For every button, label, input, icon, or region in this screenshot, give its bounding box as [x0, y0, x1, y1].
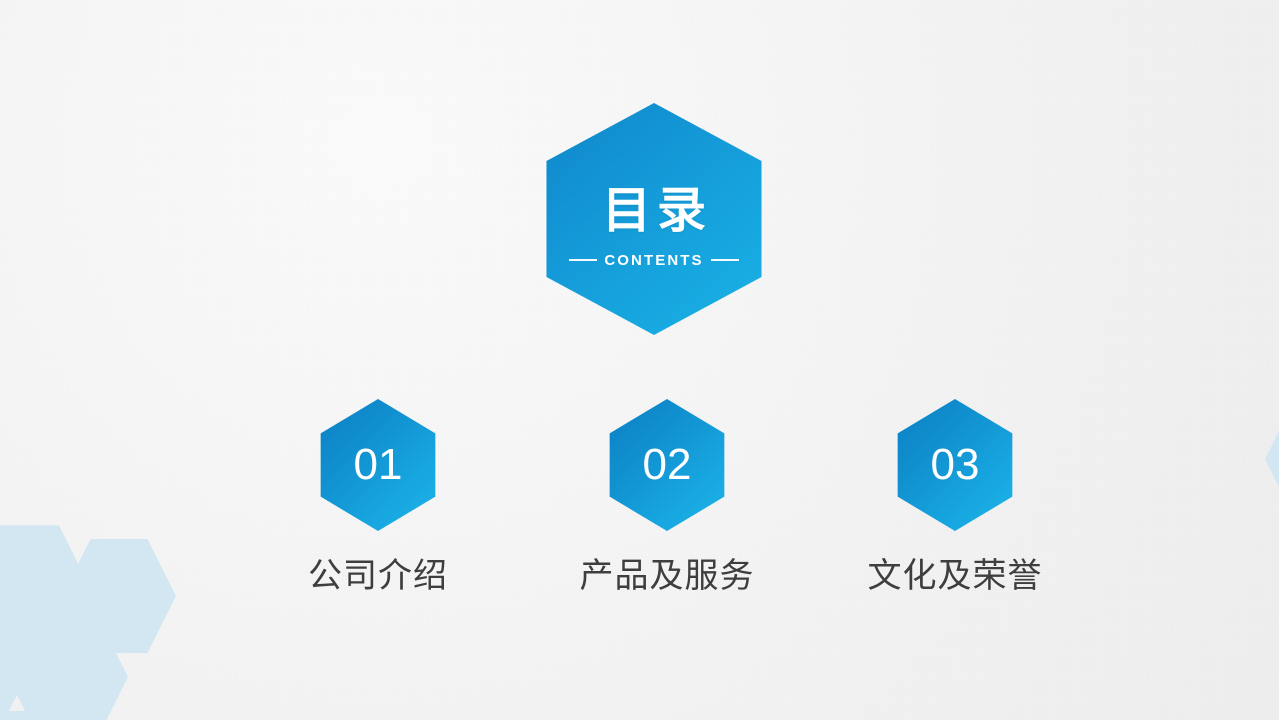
contents-title-hexagon: 目录 CONTENTS [542, 103, 766, 335]
rule-left-icon [569, 259, 597, 261]
decor-left-hexagon-5 [0, 706, 74, 720]
contents-subtitle-row: CONTENTS [569, 253, 738, 268]
rule-right-icon [711, 259, 739, 261]
decor-left-hexagon-4 [8, 612, 128, 720]
toc-item-number-03: 03 [931, 443, 980, 487]
toc-item-label-02[interactable]: 产品及服务 [517, 557, 817, 596]
toc-item-label-01[interactable]: 公司介绍 [228, 557, 528, 596]
decor-right-hexagon-6 [1265, 398, 1279, 520]
decor-left-hexagon-2 [62, 534, 176, 658]
toc-item-hexagon-03[interactable]: 03 [894, 399, 1016, 531]
decor-left-hexagon-1 [0, 520, 90, 654]
toc-item-hexagon-01[interactable]: 01 [317, 399, 439, 531]
toc-item-number-01: 01 [354, 443, 403, 487]
slide-title-cn: 目录 [602, 187, 712, 236]
presentation-slide: 目录 CONTENTS 01 02 03 公司介绍 产品及服务 文化及荣誉 [0, 0, 1279, 720]
decor-left-hexagon-6 [54, 716, 166, 720]
toc-item-label-03[interactable]: 文化及荣誉 [805, 557, 1105, 596]
slide-title-en: CONTENTS [604, 253, 703, 268]
toc-item-hexagon-02[interactable]: 02 [606, 399, 728, 531]
toc-item-number-02: 02 [643, 443, 692, 487]
decor-left-hexagon-3 [0, 596, 34, 720]
